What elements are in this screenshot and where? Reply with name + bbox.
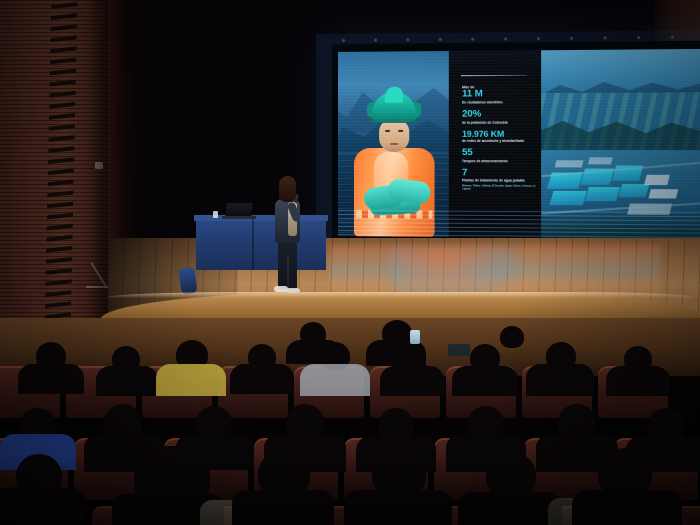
presentation-table (196, 218, 326, 270)
brick-side-wall (0, 0, 116, 335)
audience-shoulders (232, 490, 334, 525)
worker-face (379, 119, 409, 152)
audience-area (0, 318, 700, 525)
stats-list: Más de 11 M De ciudadanos atendidos 20% … (462, 85, 538, 196)
audience-shoulders (344, 490, 452, 525)
stat-item: 20% de la población de Colombia (462, 109, 538, 124)
worker-eye-left (385, 130, 390, 132)
stat-item: 55 Tanques de almacenamiento (462, 148, 538, 163)
stat-number: 11 M (462, 89, 538, 100)
audience-shoulders (572, 490, 682, 525)
stat-subtitle: de redes de acueducto y alcantarillado (462, 139, 538, 143)
audience-shoulders (452, 366, 518, 396)
worker-helmet-crest (385, 87, 404, 103)
audience-shoulders (230, 364, 294, 394)
audience-shoulders (0, 488, 86, 525)
audience-shoulders (380, 366, 444, 396)
screen-content: Más de 11 M De ciudadanos atendidos 20% … (338, 49, 700, 239)
stats-divider-rule (461, 75, 527, 76)
audience-head (500, 326, 524, 348)
phone-screen (410, 330, 420, 344)
audience-shoulders-grey-shirt (300, 364, 370, 396)
slide-panel-statistics: Más de 11 M De ciudadanos atendidos 20% … (449, 50, 541, 237)
stat-footnote: Wiesner, Tibitoc, Vitelma, El Dorado, Ag… (462, 184, 538, 191)
table-drape-seam (252, 218, 254, 270)
water-cup (213, 211, 218, 218)
stage-apron-highlight (104, 292, 696, 298)
slide-panel-worker-photo (338, 51, 449, 237)
audience-shoulders (96, 366, 158, 396)
worker-mouth (390, 143, 398, 145)
stat-number: 7 (462, 168, 538, 179)
audience-shoulders-yellow-shirt (156, 364, 226, 396)
stat-number: 20% (462, 109, 538, 120)
stat-number: 55 (462, 148, 538, 159)
stat-item: 19.976 KM de redes de acueducto y alcant… (462, 129, 538, 143)
presenter-leg-seam (287, 254, 289, 289)
audience-shoulders (606, 366, 670, 396)
auditorium-scene: Más de 11 M De ciudadanos atendidos 20% … (0, 0, 700, 525)
tablet-screen (448, 344, 470, 356)
worker-eye-right (398, 130, 403, 132)
laptop-base[interactable] (222, 216, 256, 219)
aerial-foreground-vegetation (541, 211, 700, 239)
stat-item: Más de 11 M De ciudadanos atendidos (462, 85, 538, 105)
audience-shoulders (458, 492, 562, 525)
audience-shoulders (18, 364, 84, 394)
presenter-hair (279, 176, 296, 202)
stat-item: 7 Plantas de tratamiento de agua potable… (462, 168, 538, 191)
utility-worker-figure (346, 85, 443, 236)
laptop-screen[interactable] (225, 203, 252, 217)
stat-number: 19.976 KM (462, 129, 538, 139)
stat-subtitle: De ciudadanos atendidos (462, 100, 538, 104)
audience-shoulders (526, 364, 594, 396)
stat-subtitle: Plantas de tratamiento de agua potable (462, 179, 538, 183)
slide-panel-aerial-photo (541, 49, 700, 239)
stat-subtitle: Tanques de almacenamiento (462, 159, 538, 163)
led-video-wall[interactable]: Más de 11 M De ciudadanos atendidos 20% … (332, 41, 700, 253)
presenter (266, 176, 306, 298)
bag-on-stage (178, 267, 197, 295)
stat-subtitle: de la población de Colombia (462, 120, 538, 124)
